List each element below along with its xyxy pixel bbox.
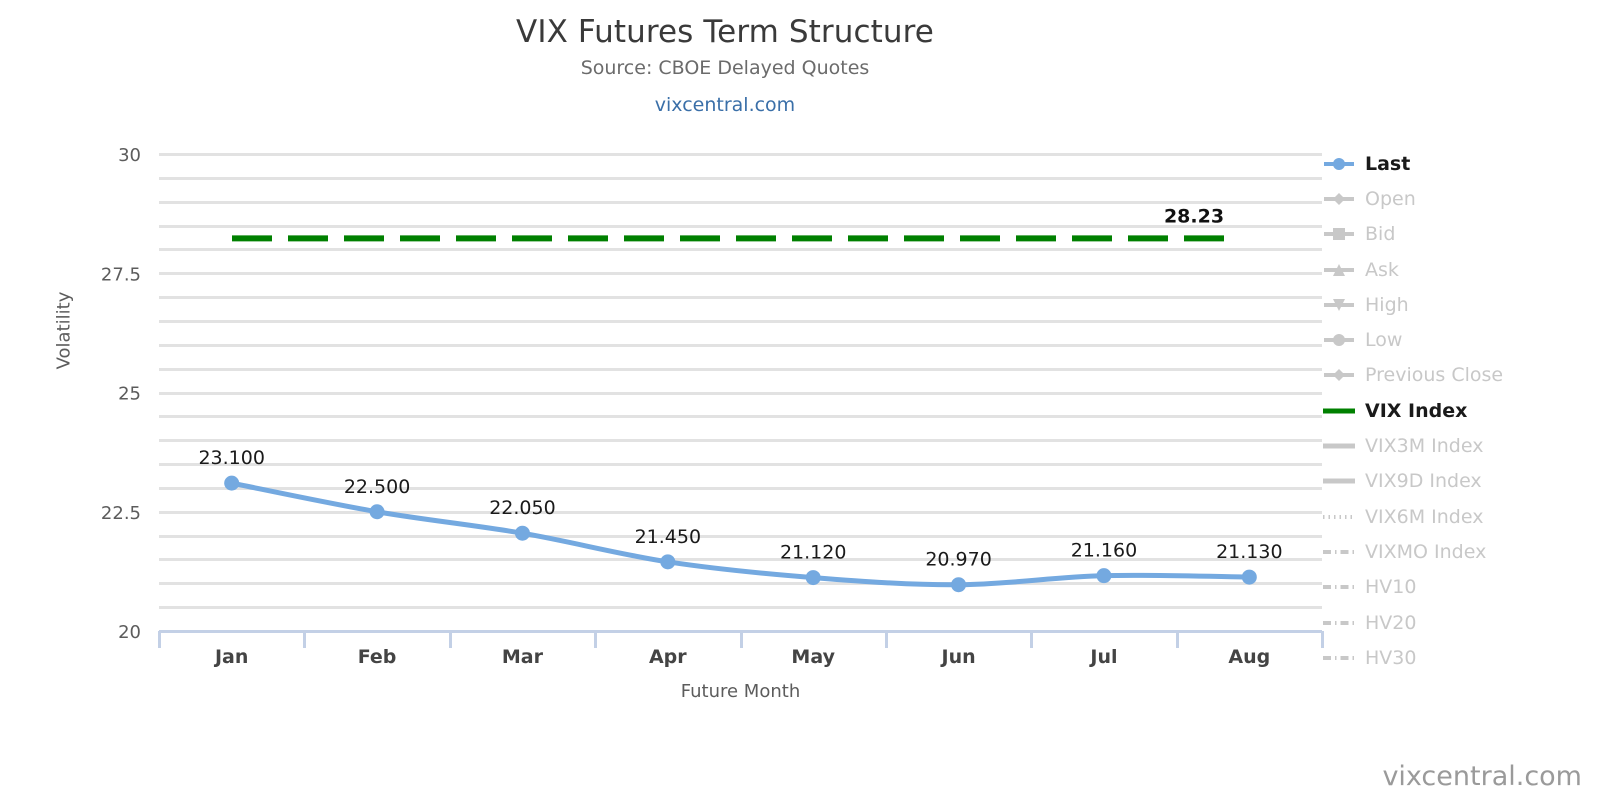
x-tick-label: Aug	[1228, 646, 1270, 668]
watermark: vixcentral.com	[1382, 761, 1582, 792]
data-point-label: 21.450	[635, 526, 701, 548]
data-point[interactable]	[660, 554, 675, 569]
legend-item-vix3m-index[interactable]: VIX3M Index	[1322, 428, 1592, 463]
legend-item-vix6m-index[interactable]: VIX6M Index	[1322, 499, 1592, 534]
legend-swatch-none-solid-icon	[1322, 471, 1356, 491]
legend-item-label: VIX Index	[1365, 400, 1467, 422]
data-point[interactable]	[951, 577, 966, 592]
legend-item-hv30[interactable]: HV30	[1322, 640, 1592, 675]
x-tick-label: Mar	[502, 646, 544, 668]
legend-item-label: HV20	[1365, 612, 1416, 634]
data-point-label: 20.970	[925, 549, 991, 571]
legend-item-label: HV30	[1365, 647, 1416, 669]
y-tick-label: 25	[118, 384, 141, 405]
legend-item-previous-close[interactable]: Previous Close	[1322, 358, 1592, 393]
legend-item-label: VIX3M Index	[1365, 435, 1483, 457]
legend-item-vixmo-index[interactable]: VIXMO Index	[1322, 534, 1592, 569]
legend-swatch-circle-line-marker-icon	[1322, 154, 1356, 174]
legend-item-label: Open	[1365, 188, 1416, 210]
legend-marker-square-icon	[1333, 228, 1345, 240]
legend-item-label: Last	[1365, 153, 1410, 175]
data-point-label: 21.160	[1071, 540, 1137, 562]
x-tick-label: Jan	[213, 646, 248, 668]
legend-marker-diamond-icon	[1333, 193, 1345, 205]
legend-swatch-triangle-down-line-marker-icon	[1322, 295, 1356, 315]
legend-item-label: HV10	[1365, 576, 1416, 598]
legend-swatch-square-line-marker-icon	[1322, 224, 1356, 244]
legend-swatch-none-dash-dot-icon	[1322, 648, 1356, 668]
x-tick-label: Jul	[1088, 646, 1117, 668]
legend-marker-circle-icon	[1333, 334, 1345, 346]
legend-swatch-diamond-line-marker-icon	[1322, 365, 1356, 385]
data-point-label: 22.050	[489, 497, 555, 519]
legend-swatch-diamond-line-marker-icon	[1322, 189, 1356, 209]
legend-marker-circle-icon	[1333, 158, 1345, 170]
legend-swatch-triangle-up-line-marker-icon	[1322, 260, 1356, 280]
legend-item-hv20[interactable]: HV20	[1322, 605, 1592, 640]
data-point-label: 22.500	[344, 476, 410, 498]
legend-swatch-none-dash-dot-icon	[1322, 613, 1356, 633]
data-point[interactable]	[806, 570, 821, 585]
legend-swatch-none-solid-icon	[1322, 401, 1356, 421]
legend-item-vix-index[interactable]: VIX Index	[1322, 393, 1592, 428]
legend-swatch-none-dotted-icon	[1322, 507, 1356, 527]
x-axis: JanFebMarAprMayJunJulAug	[159, 631, 1323, 668]
reference-line-vix-index[interactable]: 28.23	[232, 205, 1228, 238]
series-last[interactable]: 23.10022.50022.05021.45021.12020.97021.1…	[198, 447, 1282, 592]
data-point[interactable]	[224, 476, 239, 491]
y-tick-label: 30	[118, 145, 141, 166]
legend-item-label: Ask	[1365, 259, 1399, 281]
gridlines	[159, 155, 1322, 632]
data-point-label: 23.100	[198, 447, 264, 469]
legend-item-label: VIXMO Index	[1365, 541, 1486, 563]
legend-item-label: VIX9D Index	[1365, 470, 1482, 492]
legend-item-last[interactable]: Last	[1322, 146, 1592, 181]
reference-line-label: 28.23	[1164, 205, 1224, 227]
x-tick-label: Feb	[358, 646, 397, 668]
legend-item-label: Low	[1365, 329, 1402, 351]
legend-item-low[interactable]: Low	[1322, 322, 1592, 357]
legend-item-vix9d-index[interactable]: VIX9D Index	[1322, 464, 1592, 499]
data-point[interactable]	[1242, 570, 1257, 585]
legend-item-label: Previous Close	[1365, 364, 1503, 386]
data-point[interactable]	[515, 526, 530, 541]
y-axis-ticks: 2022.52527.530	[101, 145, 141, 643]
legend-item-hv10[interactable]: HV10	[1322, 570, 1592, 605]
legend-item-bid[interactable]: Bid	[1322, 217, 1592, 252]
legend-swatch-none-dash-dot-icon	[1322, 542, 1356, 562]
legend-swatch-circle-line-marker-icon	[1322, 330, 1356, 350]
data-point-label: 21.120	[780, 542, 846, 564]
x-tick-label: Jun	[940, 646, 976, 668]
chart-legend: LastOpenBidAskHighLowPrevious CloseVIX I…	[1322, 146, 1592, 675]
series-line	[232, 483, 1250, 585]
legend-item-ask[interactable]: Ask	[1322, 252, 1592, 287]
legend-item-label: VIX6M Index	[1365, 506, 1483, 528]
y-tick-label: 22.5	[101, 503, 141, 524]
x-tick-label: May	[791, 646, 835, 668]
legend-swatch-none-dash-dot-icon	[1322, 577, 1356, 597]
legend-item-high[interactable]: High	[1322, 287, 1592, 322]
legend-swatch-none-solid-icon	[1322, 436, 1356, 456]
chart-container: VIX Futures Term Structure Source: CBOE …	[0, 0, 1600, 800]
data-point-label: 21.130	[1216, 541, 1282, 563]
legend-item-open[interactable]: Open	[1322, 181, 1592, 216]
x-tick-label: Apr	[649, 646, 687, 668]
y-tick-label: 27.5	[101, 264, 141, 285]
legend-item-label: Bid	[1365, 223, 1395, 245]
y-tick-label: 20	[118, 622, 141, 643]
legend-marker-diamond-icon	[1333, 369, 1345, 381]
legend-item-label: High	[1365, 294, 1409, 316]
data-point[interactable]	[1096, 568, 1111, 583]
data-point[interactable]	[370, 504, 385, 519]
